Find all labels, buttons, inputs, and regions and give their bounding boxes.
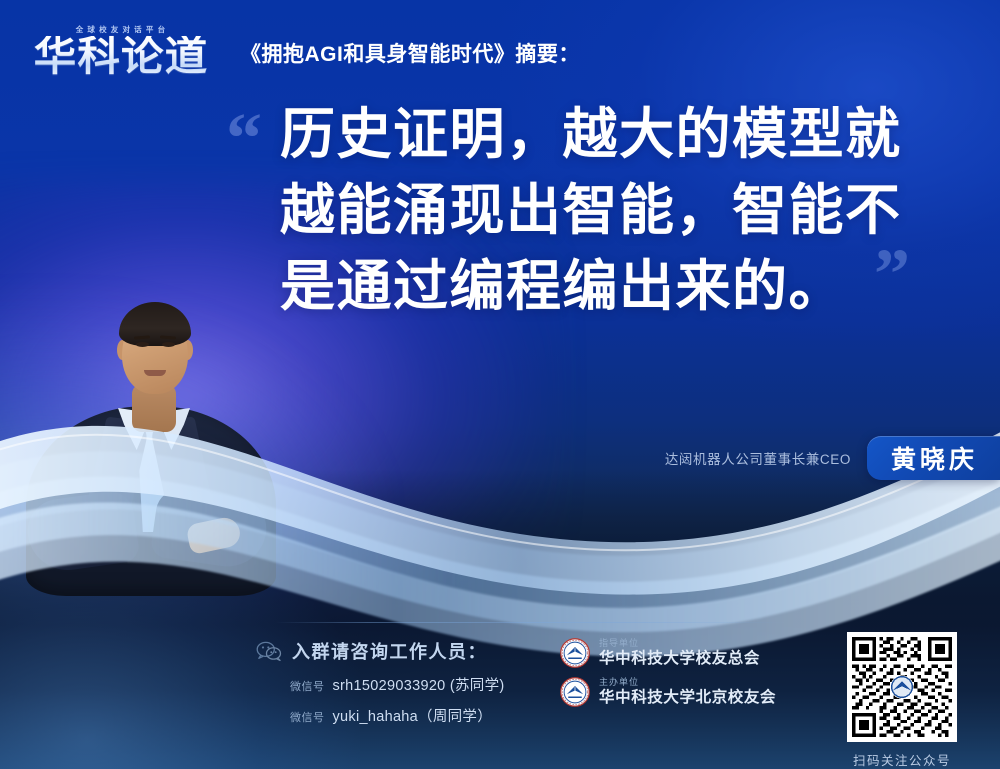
quote-block: “ 历史证明，越大的模型就 越能涌现出智能，智能不 是通过编程编出来的。 ”: [238, 96, 950, 324]
contact-row: 微信号 yuki_hahaha（周同学）: [290, 705, 586, 726]
organizations-block: 指导单位 华中科技大学校友总会 主办单位 华中科技大学北京校友会: [560, 638, 776, 716]
org-kind: 主办单位: [599, 678, 776, 687]
wechat-icon: [256, 640, 282, 662]
org-name: 华中科技大学北京校友会: [599, 690, 776, 706]
contact-block: 入群请咨询工作人员： 微信号 srh15029033920 (苏同学) 微信号 …: [256, 638, 586, 736]
footer-divider: [276, 622, 788, 623]
speaker-name: 黄晓庆: [891, 440, 978, 476]
org-text: 主办单位 华中科技大学北京校友会: [599, 678, 776, 706]
org-row: 主办单位 华中科技大学北京校友会: [560, 677, 776, 707]
speaker-portrait: [22, 288, 280, 588]
qr-code-icon[interactable]: [847, 632, 957, 742]
speaker-attribution: 达闼机器人公司董事长兼CEO 黄晓庆: [665, 436, 1000, 480]
speaker-role: 达闼机器人公司董事长兼CEO: [665, 448, 851, 468]
quote-close-mark: ”: [874, 238, 906, 310]
contact-label: 微信号: [290, 678, 325, 694]
hust-seal-icon: [560, 677, 590, 707]
contact-value[interactable]: srh15029033920 (苏同学): [333, 674, 505, 695]
brand-logo: 全球校友对话平台 华科论道: [22, 15, 220, 77]
footer-section: 入群请咨询工作人员： 微信号 srh15029033920 (苏同学) 微信号 …: [0, 636, 1000, 769]
header-bar: 全球校友对话平台 华科论道 《拥抱AGI和具身智能时代》摘要：: [0, 0, 1000, 92]
contact-row: 微信号 srh15029033920 (苏同学): [290, 674, 586, 695]
org-text: 指导单位 华中科技大学校友总会: [599, 639, 760, 667]
portrait-mouth: [144, 370, 166, 376]
poster-canvas: 全球校友对话平台 华科论道 《拥抱AGI和具身智能时代》摘要： “ 历史证明，越…: [0, 0, 1000, 769]
portrait-eye-left: [136, 342, 149, 347]
quote-line-2: 越能涌现出智能，智能不: [280, 172, 950, 248]
org-kind: 指导单位: [599, 639, 760, 648]
contact-value[interactable]: yuki_hahaha（周同学）: [333, 705, 493, 726]
quote-line-1: 历史证明，越大的模型就: [280, 96, 950, 172]
qr-caption: 扫码关注公众号: [838, 750, 966, 769]
contact-title: 入群请咨询工作人员：: [292, 638, 487, 664]
quote-lines: 历史证明，越大的模型就 越能涌现出智能，智能不 是通过编程编出来的。: [238, 96, 950, 324]
speaker-name-badge: 黄晓庆: [867, 436, 1000, 480]
contact-heading: 入群请咨询工作人员：: [256, 638, 586, 664]
logo-wordmark: 华科论道: [34, 36, 209, 77]
contact-label: 微信号: [290, 709, 325, 725]
quote-line-3: 是通过编程编出来的。: [280, 248, 950, 324]
org-row: 指导单位 华中科技大学校友总会: [560, 638, 776, 668]
portrait-eye-right: [162, 342, 175, 347]
org-name: 华中科技大学校友总会: [599, 651, 760, 667]
page-title: 《拥抱AGI和具身智能时代》摘要：: [240, 24, 580, 68]
portrait-hair: [119, 302, 191, 346]
qr-block: 扫码关注公众号: [838, 632, 966, 769]
hust-seal-icon: [560, 638, 590, 668]
